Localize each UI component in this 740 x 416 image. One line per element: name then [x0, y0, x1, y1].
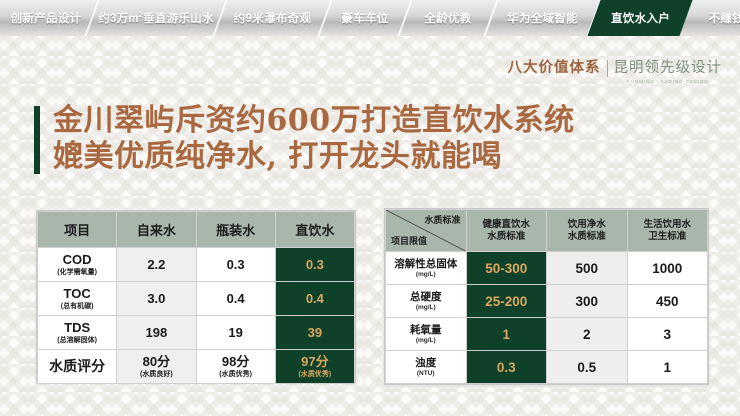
headline-line-1: 金川翠屿斥资约600万打造直饮水系统: [53, 103, 575, 139]
header-line-2: 水质标准: [568, 231, 606, 242]
nav-item-innovative-product-design[interactable]: 创新产品设计: [0, 0, 92, 36]
value-tds-tap: 198: [117, 316, 196, 350]
table-header-row: 水质标准 项目限值 健康直饮水 水质标准 饮用净水 水质标准 生活饮用水 卫生标…: [386, 210, 708, 252]
value-toc-direct: 0.4: [275, 282, 354, 316]
row-label-total-hardness: 总硬度 (mg/L): [386, 285, 467, 318]
row-label-main: TDS: [38, 320, 116, 335]
headline-block: 金川翠屿斥资约600万打造直饮水系统 媲美优质纯净水, 打开龙头就能喝: [34, 103, 575, 175]
nav-item-luxury-parking[interactable]: 豪车车位: [325, 0, 405, 36]
row-label-main: 溶解性总固体: [386, 258, 466, 271]
table-row: 溶解性总固体 (mg/L) 50-300 500 1000: [386, 252, 708, 285]
nav-item-label: 直饮水入户: [611, 10, 670, 26]
value-tds-direct: 39: [275, 316, 354, 350]
column-header-domestic: 生活饮用水 卫生标准: [627, 210, 708, 252]
row-label-main: 耗氧量: [386, 324, 466, 337]
column-header-direct: 直饮水: [275, 212, 354, 248]
row-label-toc: TOC (总有机碳): [38, 282, 117, 316]
nav-item-label: 创新产品设计: [11, 10, 82, 26]
row-label-main: TOC: [38, 286, 116, 301]
nav-item-label: 华为全域智能: [507, 10, 578, 26]
water-standards-table: 水质标准 项目限值 健康直饮水 水质标准 饮用净水 水质标准 生活饮用水 卫生标…: [384, 208, 709, 385]
table-head: 项目 自来水 瓶装水 直饮水: [38, 212, 355, 248]
table-body: COD (化学需氧量) 2.2 0.3 0.3 TOC (总有机碳) 3.0 0…: [38, 248, 355, 384]
value-turbidity-healthy: 0.3: [466, 351, 547, 384]
value-tds-bottled: 19: [196, 316, 275, 350]
row-label-main: 总硬度: [386, 291, 466, 304]
corner-label-limit: 项目限值: [391, 235, 427, 247]
corner-header-cell: 水质标准 项目限值: [386, 210, 467, 252]
table-row: 浊度 (NTU) 0.3 0.5 1: [386, 351, 708, 384]
row-label-unit: (mg/L): [386, 271, 466, 279]
nav-item-label: 约3万m2垂直游乐山水: [98, 10, 214, 26]
table-row: TDS (总溶解固体) 198 19 39: [38, 316, 355, 350]
nav-item-label: 豪车车位: [341, 10, 388, 26]
row-label-total-dissolved-solids: 溶解性总固体 (mg/L): [386, 252, 467, 285]
score-note: (水质优秀): [197, 370, 275, 379]
row-label-tds: TDS (总溶解固体): [38, 316, 117, 350]
table-row: COD (化学需氧量) 2.2 0.3 0.3: [38, 248, 355, 282]
table-head: 水质标准 项目限值 健康直饮水 水质标准 饮用净水 水质标准 生活饮用水 卫生标…: [386, 210, 708, 252]
value-oxygen-healthy: 1: [466, 318, 547, 351]
table-body: 溶解性总固体 (mg/L) 50-300 500 1000 总硬度 (mg/L)…: [386, 252, 708, 384]
column-header-tap: 自来水: [117, 212, 196, 248]
nav-item-all-age-education[interactable]: 全龄优教: [405, 0, 491, 36]
value-turbidity-domestic: 1: [627, 351, 708, 384]
header-line-1: 饮用净水: [568, 219, 606, 230]
brand-subtitle: 昆明领先级设计: [614, 58, 723, 78]
score-note: (水质良好): [117, 370, 195, 379]
row-label-unit: (mg/L): [386, 337, 466, 345]
column-header-healthy-direct: 健康直饮水 水质标准: [466, 210, 547, 252]
column-header-bottled: 瓶装水: [196, 212, 275, 248]
table-row: TOC (总有机碳) 3.0 0.4 0.4: [38, 282, 355, 316]
table-row: 总硬度 (mg/L) 25-200 300 450: [386, 285, 708, 318]
slide-canvas: 创新产品设计 约3万m2垂直游乐山水 约9米瀑布奇观 豪车车位 全龄优教 华为全…: [0, 0, 740, 416]
row-label-unit: (NTU): [386, 370, 466, 378]
value-score-direct: 97分 (水质优秀): [275, 350, 354, 384]
value-hardness-purified: 300: [547, 285, 628, 318]
table-row: 耗氧量 (mg/L) 1 2 3: [386, 318, 708, 351]
corner-label-standard: 水质标准: [424, 214, 460, 226]
value-tds-purified: 500: [547, 252, 628, 285]
score-value: 80分: [117, 354, 195, 369]
value-oxygen-purified: 2: [547, 318, 628, 351]
row-label-unit: (mg/L): [386, 304, 466, 312]
value-tds-domestic: 1000: [627, 252, 708, 285]
brand-subtitle-english: KUNMING LEADING DESIGN: [627, 79, 709, 84]
value-toc-tap: 3.0: [117, 282, 196, 316]
water-standards-table-grid: 水质标准 项目限值 健康直饮水 水质标准 饮用净水 水质标准 生活饮用水 卫生标…: [385, 209, 708, 384]
headline-line-2: 媲美优质纯净水, 打开龙头就能喝: [53, 139, 575, 175]
nav-item-label: 全龄优教: [424, 10, 471, 26]
nav-item-label: 不赚钱物业: [709, 10, 740, 26]
value-turbidity-purified: 0.5: [547, 351, 628, 384]
column-header-purified: 饮用净水 水质标准: [547, 210, 628, 252]
row-label-main: 浊度: [386, 357, 466, 370]
water-comparison-table-grid: 项目 自来水 瓶装水 直饮水 COD (化学需氧量) 2.2 0.3 0.3: [37, 211, 355, 384]
brand-divider: [607, 60, 608, 77]
value-cod-direct: 0.3: [275, 248, 354, 282]
brand-lockup: 八大价值体系 昆明领先级设计 KUNMING LEADING DESIGN: [508, 58, 723, 84]
header-line-2: 卫生标准: [648, 231, 686, 242]
column-header-item: 项目: [38, 212, 117, 248]
nav-item-direct-drinking-water[interactable]: 直饮水入户: [587, 0, 692, 36]
row-label-water-score: 水质评分: [38, 350, 117, 384]
row-label-main: COD: [38, 252, 116, 267]
score-value: 97分: [276, 354, 354, 369]
value-hardness-healthy: 25-200: [466, 285, 547, 318]
nav-item-vertical-landscape[interactable]: 约3万m2垂直游乐山水: [92, 0, 220, 36]
header-line-2: 水质标准: [487, 231, 525, 242]
brand-subtitle-group: 昆明领先级设计 KUNMING LEADING DESIGN: [614, 58, 723, 84]
nav-item-huawei-smart-home[interactable]: 华为全域智能: [491, 0, 594, 36]
value-cod-tap: 2.2: [117, 248, 196, 282]
value-toc-bottled: 0.4: [196, 282, 275, 316]
nav-item-non-profit-property[interactable]: 不赚钱物业: [686, 0, 740, 36]
brand-title: 八大价值体系: [508, 58, 601, 78]
value-score-tap: 80分 (水质良好): [117, 350, 196, 384]
score-note: (水质优秀): [276, 370, 354, 379]
value-oxygen-domestic: 3: [627, 318, 708, 351]
row-label-cod: COD (化学需氧量): [38, 248, 117, 282]
header-line-1: 生活饮用水: [643, 219, 691, 230]
value-score-bottled: 98分 (水质优秀): [196, 350, 275, 384]
table-header-row: 项目 自来水 瓶装水 直饮水: [38, 212, 355, 248]
nav-item-waterfall[interactable]: 约9米瀑布奇观: [220, 0, 325, 36]
value-cod-bottled: 0.3: [196, 248, 275, 282]
nav-item-label: 约9米瀑布奇观: [234, 10, 312, 26]
value-hardness-domestic: 450: [627, 285, 708, 318]
row-label-sub: (总有机碳): [38, 302, 116, 311]
headline-accent-bar: [34, 106, 40, 174]
row-label-main: 水质评分: [38, 359, 116, 374]
row-label-turbidity: 浊度 (NTU): [386, 351, 467, 384]
score-value: 98分: [197, 354, 275, 369]
water-comparison-table: 项目 自来水 瓶装水 直饮水 COD (化学需氧量) 2.2 0.3 0.3: [36, 210, 356, 383]
row-label-oxygen-consumption: 耗氧量 (mg/L): [386, 318, 467, 351]
headline-text: 金川翠屿斥资约600万打造直饮水系统 媲美优质纯净水, 打开龙头就能喝: [53, 103, 575, 175]
row-label-sub: (化学需氧量): [38, 268, 116, 277]
value-tds-healthy: 50-300: [466, 252, 547, 285]
header-line-1: 健康直饮水: [482, 219, 530, 230]
top-navigation-bar: 创新产品设计 约3万m2垂直游乐山水 约9米瀑布奇观 豪车车位 全龄优教 华为全…: [0, 0, 740, 36]
table-row: 水质评分 80分 (水质良好) 98分 (水质优秀) 97分 (水质优秀): [38, 350, 355, 384]
row-label-sub: (总溶解固体): [38, 336, 116, 345]
